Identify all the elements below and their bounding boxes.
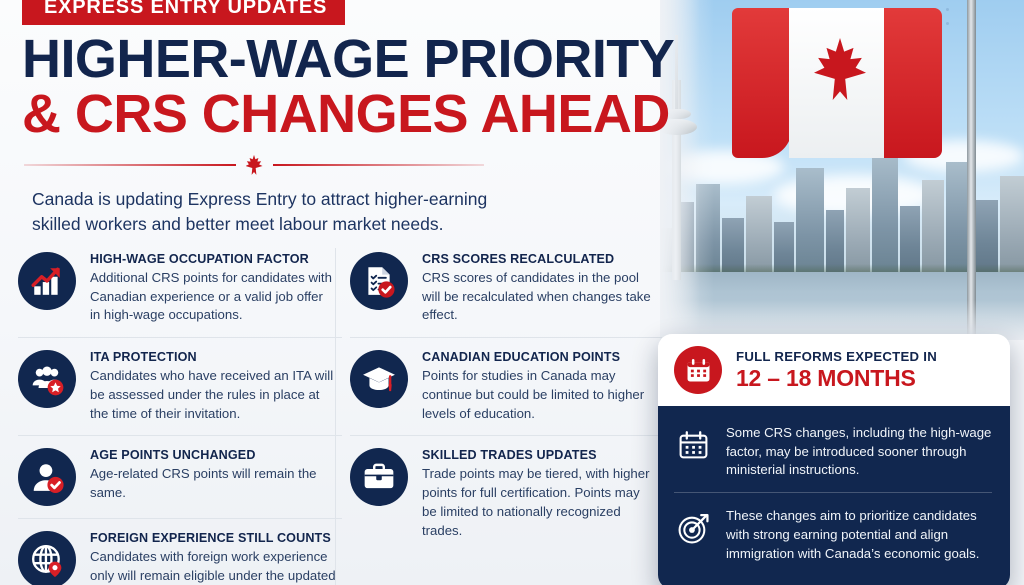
- checklist-check-icon: [350, 252, 408, 310]
- globe-pin-icon: [18, 531, 76, 585]
- item-title: FOREIGN EXPERIENCE STILL COUNTS: [90, 531, 336, 545]
- item-title: AGE POINTS UNCHANGED: [90, 448, 336, 462]
- kicker-badge: EXPRESS ENTRY UPDATES: [22, 0, 345, 25]
- subtitle: Canada is updating Express Entry to attr…: [32, 187, 502, 238]
- page-title-line1: HIGHER-WAGE PRIORITY: [22, 33, 700, 86]
- note-text: These changes aim to prioritize candidat…: [726, 507, 992, 563]
- column-right: CRS SCORES RECALCULATED CRS scores of ca…: [350, 240, 662, 552]
- item-description: Additional CRS points for candidates wit…: [90, 269, 336, 325]
- timeline-card-body: Some CRS changes, including the high-wag…: [658, 406, 1010, 585]
- list-item: Some CRS changes, including the high-wag…: [674, 410, 992, 492]
- list-item: CANADIAN EDUCATION POINTS Points for stu…: [350, 337, 662, 435]
- list-item: These changes aim to prioritize candidat…: [674, 492, 992, 575]
- item-title: SKILLED TRADES UPDATES: [422, 448, 656, 462]
- item-description: Age-related CRS points will remain the s…: [90, 465, 336, 502]
- calendar-outline-icon: [674, 426, 712, 464]
- list-item: ITA PROTECTION Candidates who have recei…: [18, 337, 342, 435]
- divider-line-left: [24, 164, 236, 166]
- card-kicker: FULL REFORMS EXPECTED IN: [736, 349, 937, 364]
- target-arrow-icon: [674, 509, 712, 547]
- item-title: HIGH-WAGE OCCUPATION FACTOR: [90, 252, 336, 266]
- timeline-card: FULL REFORMS EXPECTED IN 12 – 18 MONTHS …: [658, 334, 1010, 585]
- item-title: CRS SCORES RECALCULATED: [422, 252, 656, 266]
- graduation-cap-icon: [350, 350, 408, 408]
- column-left: HIGH-WAGE OCCUPATION FACTOR Additional C…: [18, 240, 342, 585]
- list-item: AGE POINTS UNCHANGED Age-related CRS poi…: [18, 435, 342, 518]
- bar-chart-growth-icon: [18, 252, 76, 310]
- person-check-icon: [18, 448, 76, 506]
- note-text: Some CRS changes, including the high-wag…: [726, 424, 992, 480]
- item-title: CANADIAN EDUCATION POINTS: [422, 350, 656, 364]
- item-description: Trade points may be tiered, with higher …: [422, 465, 656, 540]
- maple-leaf-divider: [24, 155, 484, 175]
- maple-leaf-icon: [246, 155, 263, 175]
- card-headline: 12 – 18 MONTHS: [736, 365, 937, 392]
- people-star-icon: [18, 350, 76, 408]
- item-title: ITA PROTECTION: [90, 350, 336, 364]
- divider-line-right: [273, 164, 485, 166]
- item-description: CRS scores of candidates in the pool wil…: [422, 269, 656, 325]
- item-description: Candidates who have received an ITA will…: [90, 367, 336, 423]
- flagpole: [967, 0, 976, 340]
- list-item: FOREIGN EXPERIENCE STILL COUNTS Candidat…: [18, 518, 342, 585]
- canadian-flag-icon: [732, 8, 942, 158]
- list-item: CRS SCORES RECALCULATED CRS scores of ca…: [350, 240, 662, 337]
- list-item: SKILLED TRADES UPDATES Trade points may …: [350, 435, 662, 552]
- item-description: Candidates with foreign work experience …: [90, 548, 336, 585]
- list-item: HIGH-WAGE OCCUPATION FACTOR Additional C…: [18, 240, 342, 337]
- item-description: Points for studies in Canada may continu…: [422, 367, 656, 423]
- briefcase-icon: [350, 448, 408, 506]
- header: EXPRESS ENTRY UPDATES HIGHER-WAGE PRIORI…: [0, 0, 700, 238]
- timeline-card-header: FULL REFORMS EXPECTED IN 12 – 18 MONTHS: [658, 334, 1010, 406]
- calendar-filled-icon: [674, 346, 722, 394]
- page-title-line2: & CRS CHANGES AHEAD: [22, 88, 700, 141]
